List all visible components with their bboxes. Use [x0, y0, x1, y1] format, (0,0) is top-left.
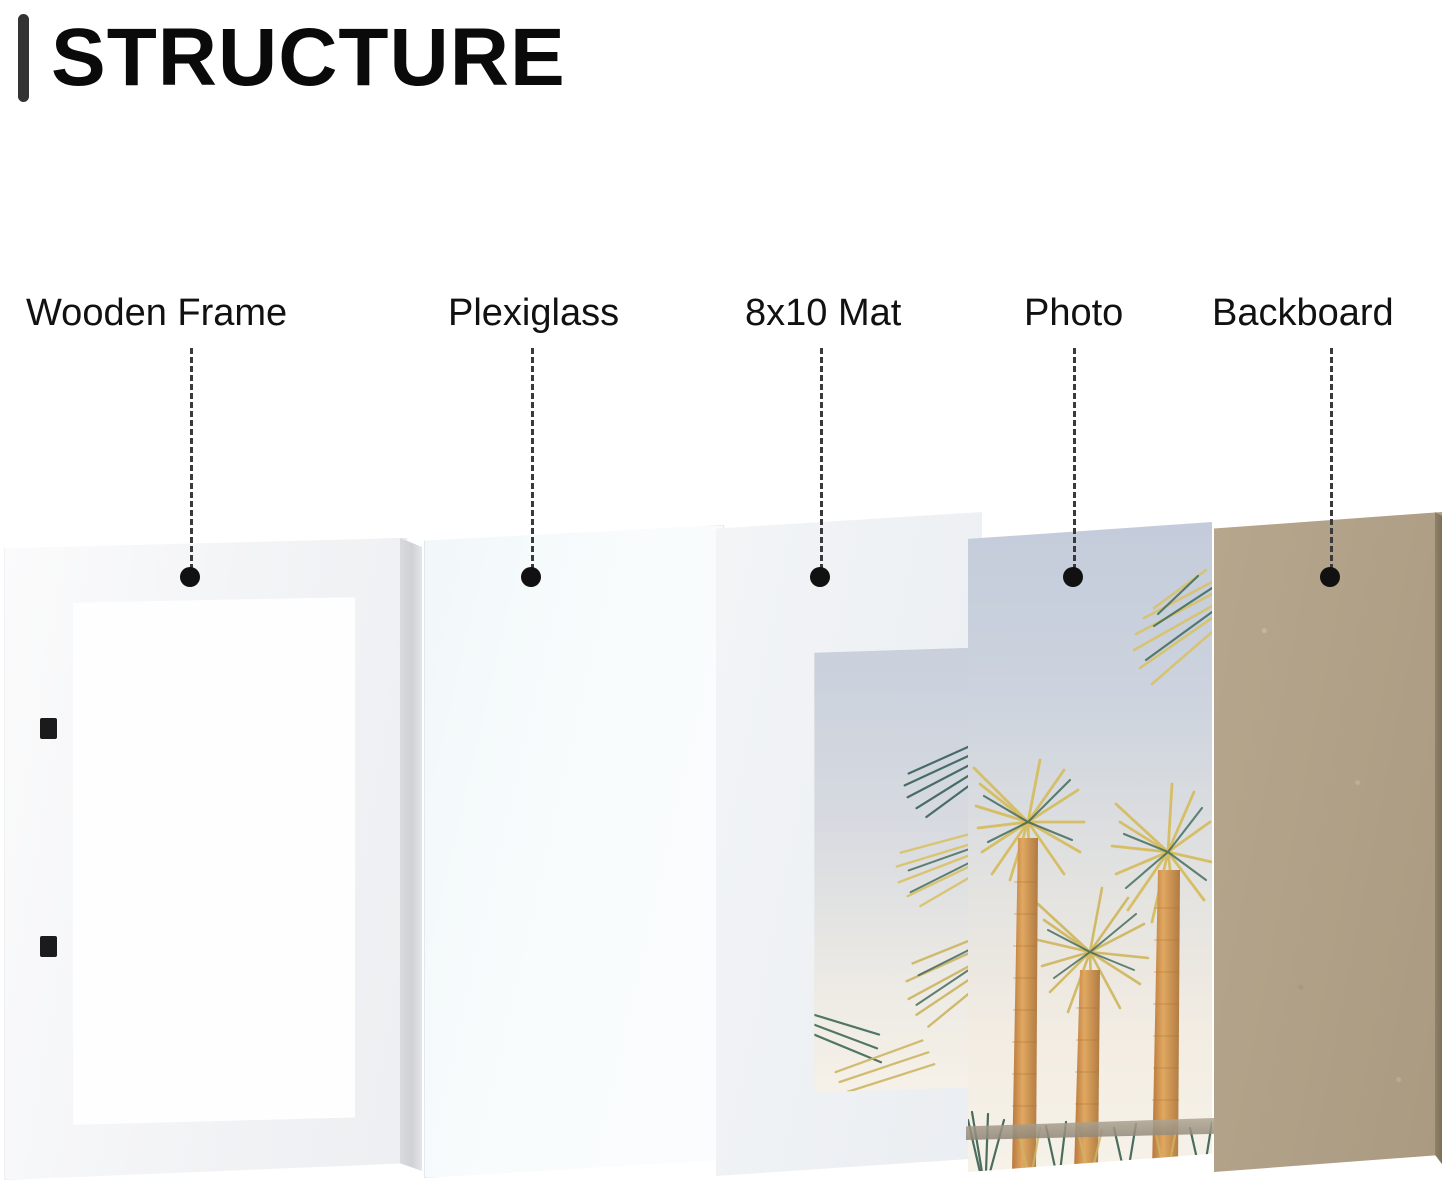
callout-label-backboard: Backboard — [1212, 292, 1394, 335]
backboard-face — [1214, 512, 1442, 1172]
callout-label-mat: 8x10 Mat — [745, 292, 901, 335]
frame-opening — [73, 597, 355, 1125]
frame-opening-inner — [73, 597, 355, 1125]
layer-photo[interactable] — [968, 522, 1212, 1172]
leader-line-mat — [820, 348, 823, 570]
backboard-side-depth — [1435, 512, 1442, 1172]
layer-plexiglass[interactable] — [424, 525, 724, 1178]
photo-palm-artwork — [968, 522, 1212, 1172]
callout-label-wooden-frame: Wooden Frame — [26, 292, 287, 335]
leader-line-photo — [1073, 348, 1076, 570]
callout-label-plexiglass: Plexiglass — [448, 292, 619, 335]
frame-side-depth — [400, 538, 422, 1180]
layer-mat[interactable] — [716, 512, 982, 1176]
exploded-diagram — [0, 0, 1445, 1186]
leader-dot-plexiglass — [521, 567, 541, 587]
mat-window-opening — [814, 647, 982, 1092]
frame-clip-bottom — [40, 936, 57, 957]
mat-window-photo-slice — [814, 647, 982, 1092]
leader-dot-wooden-frame — [180, 567, 200, 587]
leader-line-plexiglass — [531, 348, 534, 570]
leader-dot-backboard — [1320, 567, 1340, 587]
leader-dot-mat — [810, 567, 830, 587]
leader-dot-photo — [1063, 567, 1083, 587]
leader-line-backboard — [1330, 348, 1333, 570]
callout-label-photo: Photo — [1024, 292, 1123, 335]
layer-wooden-frame[interactable] — [4, 538, 422, 1180]
leader-line-wooden-frame — [190, 348, 193, 570]
layer-backboard[interactable] — [1214, 512, 1442, 1172]
frame-clip-top — [40, 718, 57, 739]
